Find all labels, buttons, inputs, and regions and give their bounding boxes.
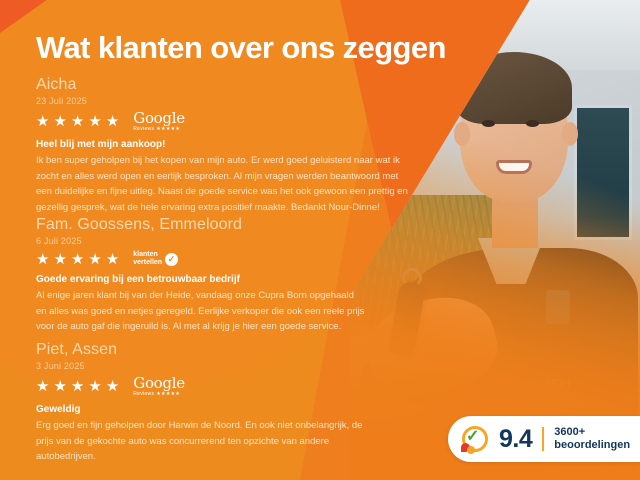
mini-star-icon: ★★★★★ — [156, 127, 180, 132]
klantenvertellen-logo: klanten vertellen ✓ — [133, 251, 178, 267]
klantenvertellen-shield-check-icon: ✓ — [461, 425, 489, 453]
check-icon: ✓ — [466, 429, 479, 445]
divider — [542, 427, 544, 451]
review-headline: Goede ervaring bij een betrouwbaar bedri… — [36, 274, 416, 285]
review-card: Piet, Assen 3 Juni 2025 ★ ★ ★ ★ ★ Google… — [36, 341, 416, 465]
rating-meta: 3600+ beoordelingen — [554, 426, 630, 453]
review-date: 6 Juli 2025 — [36, 236, 416, 246]
review-card: Fam. Goossens, Emmeloord 6 Juli 2025 ★ ★… — [36, 216, 416, 335]
review-body: Al enige jaren klant bij van der Heide, … — [36, 288, 366, 334]
star-rating: ★ ★ ★ ★ ★ — [36, 114, 119, 129]
star-icon: ★ — [53, 114, 66, 129]
rating-score: 9.4 — [499, 425, 532, 454]
review-headline: Geweldig — [36, 404, 416, 415]
review-date: 3 Juni 2025 — [36, 361, 416, 371]
review-headline: Heel blij met mijn aankoop! — [36, 139, 416, 150]
reviewer-name: Fam. Goossens, Emmeloord — [36, 216, 416, 234]
star-icon: ★ — [36, 379, 49, 394]
google-reviews-text: Reviews — [133, 392, 154, 397]
klantenvertellen-wordmark: klanten vertellen — [133, 251, 162, 267]
star-icon: ★ — [106, 252, 119, 267]
google-wordmark: Google — [133, 376, 185, 391]
mini-star-icon: ★★★★★ — [156, 392, 180, 397]
google-reviews-text: Reviews — [133, 127, 154, 132]
star-icon: ★ — [106, 379, 119, 394]
google-reviews-logo: Google Reviews ★★★★★ — [133, 376, 185, 397]
google-reviews-logo: Google Reviews ★★★★★ — [133, 111, 185, 132]
review-count: 3600+ — [554, 426, 630, 439]
star-icon: ★ — [71, 379, 84, 394]
reviewer-name: Aicha — [36, 76, 416, 94]
star-icon: ★ — [53, 252, 66, 267]
star-icon: ★ — [71, 114, 84, 129]
review-body: Erg goed en fijn geholpen door Harwin de… — [36, 418, 366, 464]
star-icon: ★ — [88, 114, 101, 129]
star-icon: ★ — [71, 252, 84, 267]
reviewer-name: Piet, Assen — [36, 341, 416, 359]
google-reviews-sublabel: Reviews ★★★★★ — [133, 127, 185, 132]
badge-accent-gold — [467, 446, 475, 454]
page-title: Wat klanten over ons zeggen — [36, 30, 446, 66]
review-card: Aicha 23 Juli 2025 ★ ★ ★ ★ ★ Google Revi… — [36, 76, 416, 215]
klantenvertellen-line1: klanten — [133, 251, 162, 259]
star-icon: ★ — [36, 252, 49, 267]
klantenvertellen-line2: vertellen — [133, 259, 162, 267]
star-icon: ★ — [53, 379, 66, 394]
star-icon: ★ — [88, 252, 101, 267]
star-icon: ★ — [36, 114, 49, 129]
star-icon: ★ — [88, 379, 101, 394]
review-body: Ik ben super geholpen bij het kopen van … — [36, 153, 408, 215]
rating-badge[interactable]: ✓ 9.4 3600+ beoordelingen — [448, 416, 640, 462]
google-wordmark: Google — [133, 111, 185, 126]
review-count-label: beoordelingen — [554, 439, 630, 452]
check-icon: ✓ — [168, 255, 176, 264]
google-reviews-sublabel: Reviews ★★★★★ — [133, 392, 185, 397]
star-rating: ★ ★ ★ ★ ★ — [36, 379, 119, 394]
star-icon: ★ — [106, 114, 119, 129]
star-rating: ★ ★ ★ ★ ★ — [36, 252, 119, 267]
review-date: 23 Juli 2025 — [36, 96, 416, 106]
promo-banner: VDH Wat klanten over ons zeggen Aicha 23… — [0, 0, 640, 480]
check-circle-icon: ✓ — [165, 253, 178, 266]
